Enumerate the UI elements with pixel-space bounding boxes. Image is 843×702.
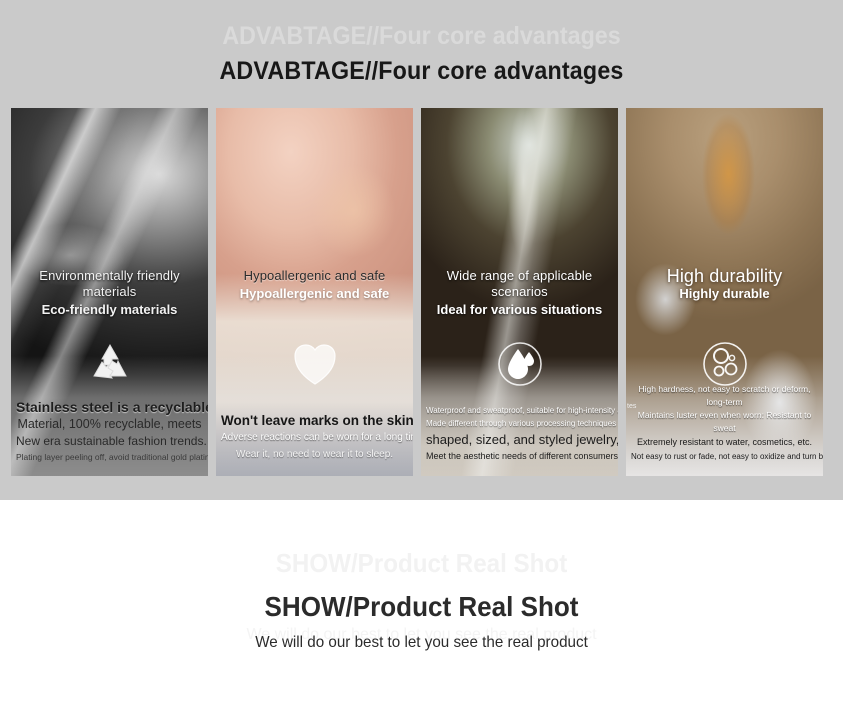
card-headline-block: Hypoallergenic and safe Hypoallergenic a… xyxy=(216,268,413,302)
show-ghost-title: SHOW/Product Real Shot xyxy=(30,548,814,579)
card-description: Won't leave marks on the skin, Adverse r… xyxy=(216,412,413,464)
card-headline-primary: High durability xyxy=(632,268,817,284)
show-section-title: SHOW/Product Real Shot xyxy=(30,591,814,623)
card-desc-line-1: Waterproof and sweatproof, suitable for … xyxy=(426,404,613,417)
advantage-card-list: Environmentally friendly materials Eco-f… xyxy=(11,108,832,476)
card-desc-line-5: Extremely resistant to water, cosmetics,… xyxy=(631,435,818,450)
show-section: SHOW/Product Real Shot SHOW/Product Real… xyxy=(0,500,843,702)
card-headline-primary: Environmentally friendly materials xyxy=(17,268,202,300)
advantage-section-title: ADVABTAGE//Four core advantages xyxy=(30,57,814,86)
card-desc-line-4: Plating layer peeling off, avoid traditi… xyxy=(16,450,203,464)
advantage-ghost-title: ADVABTAGE//Four core advantages xyxy=(30,22,814,51)
card-description: Waterproof and sweatproof, suitable for … xyxy=(421,404,618,464)
card-headline-primary: Hypoallergenic and safe xyxy=(222,268,407,284)
card-desc-line-2: Made different through various processin… xyxy=(426,417,613,430)
card-desc-line-1: High hardness, not easy to scratch or de… xyxy=(631,383,818,396)
card-desc-line-6: Not easy to rust or fade, not easy to ox… xyxy=(631,450,818,464)
card-description: High hardness, not easy to scratch or de… xyxy=(626,383,823,464)
advantage-section: ADVABTAGE//Four core advantages ADVABTAG… xyxy=(0,0,843,500)
card-desc-line-1: Won't leave marks on the skin, xyxy=(221,412,408,430)
card-desc-line-3: Wear it, no need to wear it to sleep. xyxy=(221,446,408,464)
card-headline-block: Environmentally friendly materials Eco-f… xyxy=(11,268,208,318)
card-headline-primary: Wide range of applicable scenarios xyxy=(427,268,612,300)
advantage-card-applicable-scenarios[interactable]: Wide range of applicable scenarios Ideal… xyxy=(421,108,618,476)
card-headline-secondary: Eco-friendly materials xyxy=(17,301,202,318)
page-root: ADVABTAGE//Four core advantages ADVABTAG… xyxy=(0,0,843,702)
card-desc-line-1: Stainless steel is a recyclable xyxy=(16,398,203,416)
advantage-card-hypoallergenic[interactable]: Hypoallergenic and safe Hypoallergenic a… xyxy=(216,108,413,476)
card-desc-line-2: Adverse reactions can be worn for a long… xyxy=(221,430,408,446)
card-desc-line-3: Maintains luster even when worn: Resista… xyxy=(631,409,818,422)
card-headline-secondary: Ideal for various situations xyxy=(427,301,612,318)
card-desc-line-3: New era sustainable fashion trends. None xyxy=(16,433,203,450)
advantage-card-eco-friendly[interactable]: Environmentally friendly materials Eco-f… xyxy=(11,108,208,476)
heart-shield-icon xyxy=(287,336,343,392)
card-desc-line-3: shaped, sized, and styled jewelry, xyxy=(426,430,613,449)
card-desc-line-2: long-term xyxy=(631,396,818,409)
advantage-card-high-durability[interactable]: High durability Highly durable tes High … xyxy=(626,108,823,476)
card-desc-line-4: Meet the aesthetic needs of different co… xyxy=(426,449,613,464)
card-description: Stainless steel is a recyclable Material… xyxy=(11,398,208,464)
card-headline-secondary: Hypoallergenic and safe xyxy=(222,285,407,302)
card-desc-line-4: sweat xyxy=(631,422,818,435)
recycle-icon xyxy=(82,336,138,392)
card-headline-block: Wide range of applicable scenarios Ideal… xyxy=(421,268,618,318)
show-section-subtitle: We will do our best to let you see the r… xyxy=(21,634,822,652)
card-headline-block: High durability Highly durable xyxy=(626,268,823,302)
card-desc-line-2: Material, 100% recyclable, meets xyxy=(16,416,203,433)
water-drop-icon xyxy=(492,336,548,392)
card-headline-secondary: Highly durable xyxy=(632,285,817,302)
